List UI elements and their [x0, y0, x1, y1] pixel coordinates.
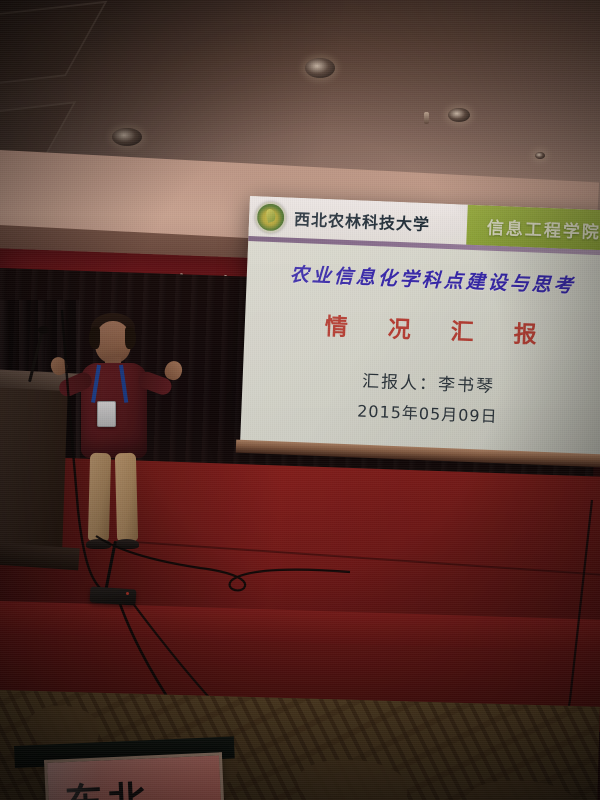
- floor-box-led-icon: [126, 592, 129, 595]
- university-name: 西北农林科技大学: [294, 206, 431, 235]
- conference-photo-scene: 2015年农业 西北农林科技大学 信息工程学院 农业信息化学科点建设与思考 情 …: [0, 0, 600, 800]
- slide-header-college-block: 信息工程学院: [466, 205, 600, 251]
- stage-floor-connector-box: [89, 586, 136, 605]
- college-name: 信息工程学院: [487, 213, 600, 243]
- placard-gloss: [47, 755, 221, 800]
- slide-title: 农业信息化学科点建设与思考: [246, 258, 600, 300]
- floor-placard: 东北...: [44, 752, 224, 800]
- university-crest-icon: [255, 201, 287, 233]
